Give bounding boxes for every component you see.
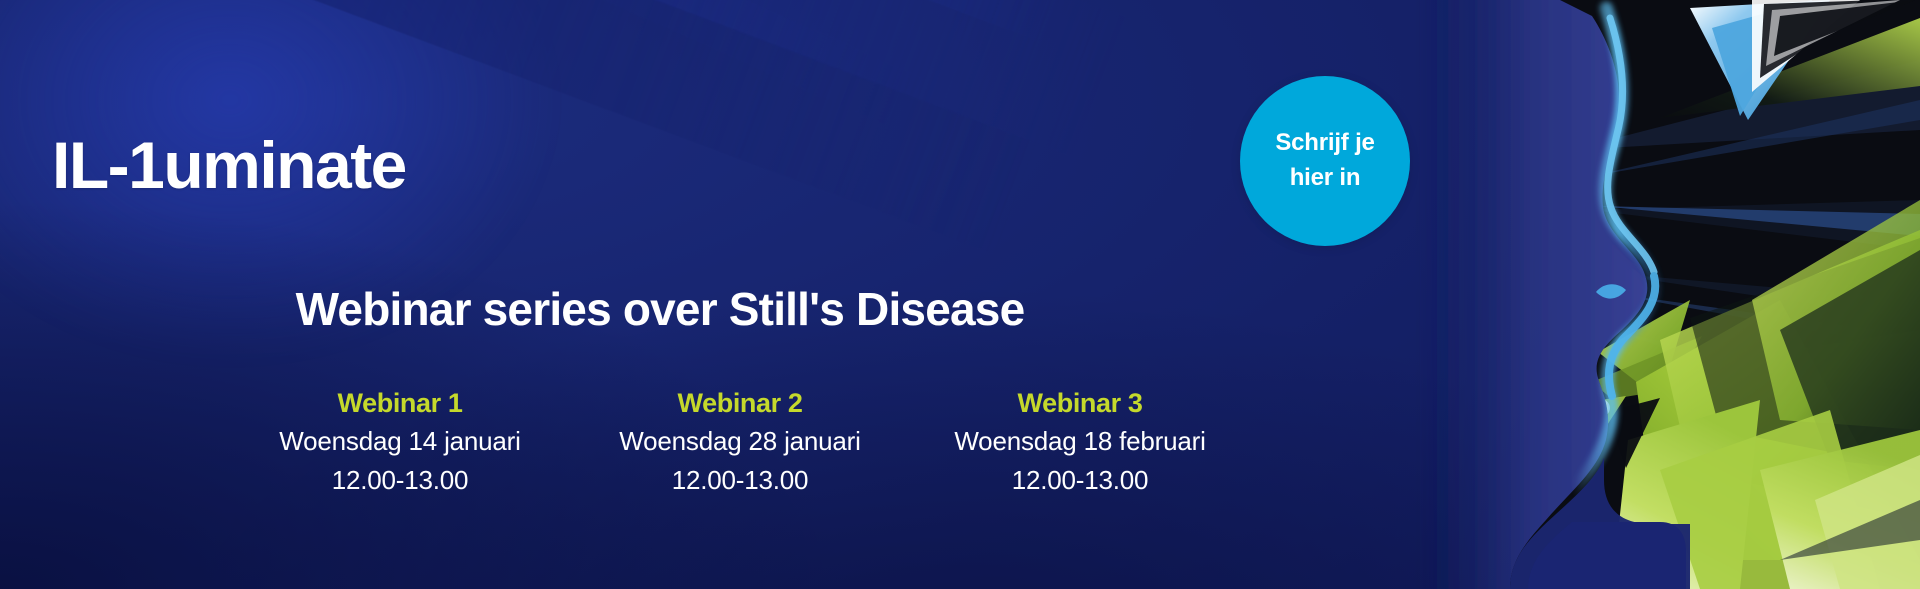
signup-badge-line-2: hier in	[1290, 161, 1361, 196]
webinar-date: Woensdag 28 januari	[570, 422, 910, 461]
webinar-title: Webinar 1	[230, 385, 570, 422]
webinar-list: Webinar 1 Woensdag 14 januari 12.00-13.0…	[230, 385, 1290, 500]
webinar-time: 12.00-13.00	[230, 461, 570, 500]
webinar-title: Webinar 3	[910, 385, 1250, 422]
webinar-banner: IL-1uminate Schrijf je hier in Webinar s…	[0, 0, 1920, 589]
webinar-date: Woensdag 18 februari	[910, 422, 1250, 461]
webinar-time: 12.00-13.00	[910, 461, 1250, 500]
webinar-item: Webinar 3 Woensdag 18 februari 12.00-13.…	[910, 385, 1250, 500]
brand-logo: IL-1uminate	[52, 132, 406, 198]
webinar-title: Webinar 2	[570, 385, 910, 422]
webinar-item: Webinar 2 Woensdag 28 januari 12.00-13.0…	[570, 385, 910, 500]
page-title: Webinar series over Still's Disease	[0, 282, 1320, 336]
signup-badge-line-1: Schrijf je	[1275, 126, 1374, 161]
webinar-time: 12.00-13.00	[570, 461, 910, 500]
webinar-date: Woensdag 14 januari	[230, 422, 570, 461]
webinar-item: Webinar 1 Woensdag 14 januari 12.00-13.0…	[230, 385, 570, 500]
signup-badge-button[interactable]: Schrijf je hier in	[1240, 76, 1410, 246]
